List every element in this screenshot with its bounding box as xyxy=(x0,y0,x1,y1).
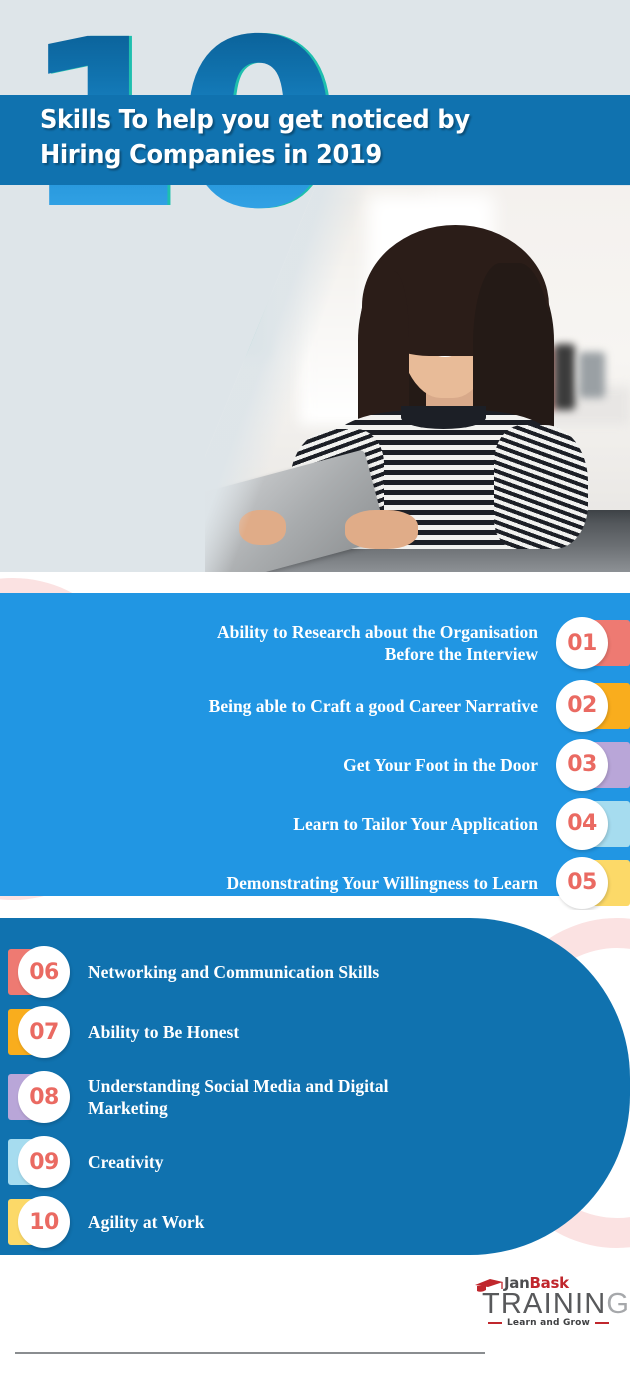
janbask-training-logo[interactable]: JanBask TRAINING Learn and Grow xyxy=(474,1274,610,1330)
badge-number: 07 xyxy=(18,1006,70,1058)
skill-badge: 06 xyxy=(8,946,80,998)
skill-badge: 03 xyxy=(554,739,630,791)
badge-number: 02 xyxy=(556,680,608,732)
skill-badge: 10 xyxy=(8,1196,80,1248)
skills-list-one: Ability to Research about the Organisati… xyxy=(0,593,630,896)
footer-section: JanBask TRAINING Learn and Grow xyxy=(0,1258,630,1392)
list-item[interactable]: 10 Agility at Work xyxy=(0,1194,630,1250)
skill-label: Being able to Craft a good Career Narrat… xyxy=(209,695,554,717)
logo-dash-left xyxy=(488,1322,502,1324)
footer-divider xyxy=(15,1352,485,1354)
skill-badge: 09 xyxy=(8,1136,80,1188)
skill-badge: 07 xyxy=(8,1006,80,1058)
skill-label: Get Your Foot in the Door xyxy=(343,754,554,776)
infographic-page: 10 10 xyxy=(0,0,630,1392)
skill-label: Networking and Communication Skills xyxy=(80,961,379,983)
skill-label: Ability to Research about the Organisati… xyxy=(217,621,554,665)
skill-label: Creativity xyxy=(80,1151,164,1173)
list-item[interactable]: 07 Ability to Be Honest xyxy=(0,1004,630,1060)
list-item[interactable]: Get Your Foot in the Door 03 xyxy=(0,736,630,793)
badge-number: 03 xyxy=(556,739,608,791)
list-item[interactable]: 08 Understanding Social Media and Digita… xyxy=(0,1064,630,1130)
list-item[interactable]: Demonstrating Your Willingness to Learn … xyxy=(0,854,630,910)
list-item[interactable]: 06 Networking and Communication Skills xyxy=(0,944,630,1000)
badge-number: 09 xyxy=(18,1136,70,1188)
skill-label: Ability to Be Honest xyxy=(80,1021,239,1043)
list-item[interactable]: 09 Creativity xyxy=(0,1134,630,1190)
photo-prop-dark-bottle xyxy=(554,344,575,410)
skill-label: Demonstrating Your Willingness to Learn xyxy=(227,872,554,894)
skill-badge: 01 xyxy=(554,617,630,669)
skill-label: Agility at Work xyxy=(80,1211,204,1233)
skill-badge: 08 xyxy=(8,1071,80,1123)
photo-person-collar xyxy=(401,406,486,429)
skill-label: Understanding Social Media and Digital M… xyxy=(80,1075,388,1119)
logo-dash-right xyxy=(595,1322,609,1324)
logo-training-main: TRAININ xyxy=(482,1288,606,1320)
skills-list-two: 06 Networking and Communication Skills 0… xyxy=(0,918,630,1255)
logo-tagline: Learn and Grow xyxy=(507,1318,590,1328)
skill-badge: 02 xyxy=(554,680,630,732)
skill-badge: 04 xyxy=(554,798,630,850)
badge-number: 08 xyxy=(18,1071,70,1123)
skills-section-one: Ability to Research about the Organisati… xyxy=(0,578,630,910)
list-item[interactable]: Ability to Research about the Organisati… xyxy=(0,611,630,675)
badge-number: 10 xyxy=(18,1196,70,1248)
list-item[interactable]: Being able to Craft a good Career Narrat… xyxy=(0,677,630,734)
logo-training-word: TRAINING xyxy=(482,1288,630,1321)
badge-number: 05 xyxy=(556,857,608,909)
hero-section: 10 10 xyxy=(0,0,630,572)
logo-training-g: G xyxy=(606,1288,630,1320)
skills-section-two: 06 Networking and Communication Skills 0… xyxy=(0,918,630,1258)
photo-person-arm-right xyxy=(494,425,588,549)
skill-label: Learn to Tailor Your Application xyxy=(293,813,554,835)
skill-badge: 05 xyxy=(554,857,630,909)
badge-number: 01 xyxy=(556,617,608,669)
logo-tagline-row: Learn and Grow xyxy=(488,1318,610,1328)
list-item[interactable]: Learn to Tailor Your Application 04 xyxy=(0,795,630,852)
badge-number: 04 xyxy=(556,798,608,850)
badge-number: 06 xyxy=(18,946,70,998)
headline-title: Skills To help you get noticed by Hiring… xyxy=(40,103,533,173)
photo-prop-gray-object xyxy=(579,352,605,398)
